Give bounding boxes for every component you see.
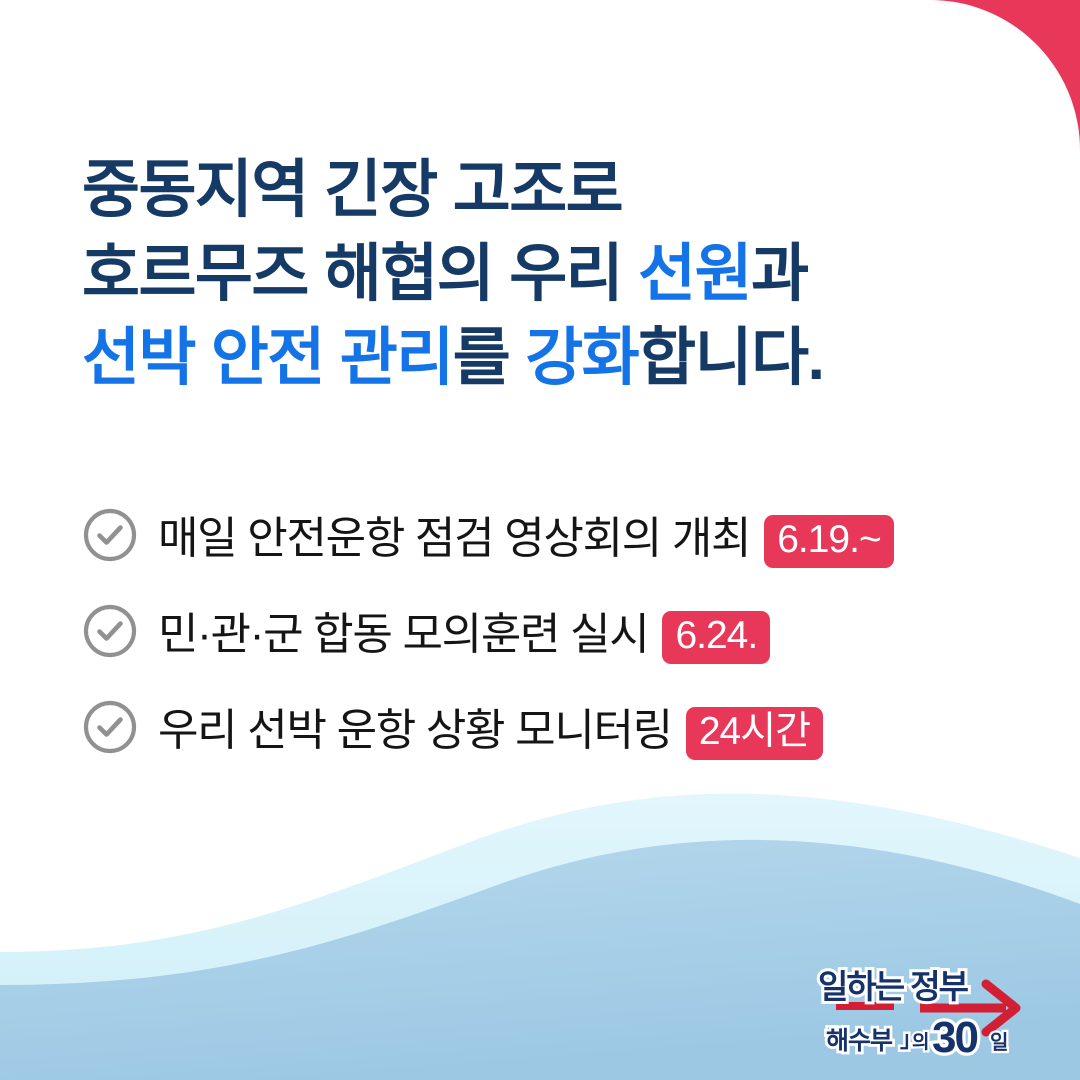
headline-seg: 중동지역 긴장 고조로 xyxy=(82,155,622,225)
checklist-item-text-wrap: 민·관·군 합동 모의훈련 실시6.24. xyxy=(158,598,770,664)
checklist-item-badge: 6.24. xyxy=(662,611,770,664)
checklist-item: 매일 안전운항 점검 영상회의 개최6.19.~ xyxy=(82,487,1022,583)
checklist-item: 우리 선박 운항 상황 모니터링24시간 xyxy=(82,679,1022,775)
logo-number: 30 xyxy=(932,1013,977,1060)
logo-unit: 일 xyxy=(990,1031,1008,1054)
check-circle-icon xyxy=(82,603,138,659)
card-news-canvas: 중동지역 긴장 고조로 호르무즈 해협의 우리 선원과 선박 안전 관리를 강화… xyxy=(0,0,1080,1080)
logo-ministry-name: 해수부 xyxy=(826,1027,893,1055)
checklist-item-label: 매일 안전운항 점검 영상회의 개최 xyxy=(158,514,750,563)
checklist-item-text-wrap: 우리 선박 운항 상황 모니터링24시간 xyxy=(158,694,823,760)
corner-accent-shape xyxy=(930,0,1080,150)
corner-accent-red-wedge xyxy=(930,0,1080,150)
logo-particle: 의 xyxy=(912,1031,929,1053)
headline-line-3: 선박 안전 관리를 강화합니다. xyxy=(82,316,982,400)
checklist-item-badge: 24시간 xyxy=(686,707,823,760)
check-circle-icon xyxy=(82,507,138,563)
checklist-item-label: 민·관·군 합동 모의훈련 실시 xyxy=(158,610,648,659)
checklist-item-label: 우리 선박 운항 상황 모니터링 xyxy=(158,706,672,755)
headline-line-2: 호르무즈 해협의 우리 선원과 xyxy=(82,232,982,316)
headline-seg: 를 xyxy=(453,323,525,393)
checklist: 매일 안전운항 점검 영상회의 개최6.19.~ 민·관·군 합동 모의훈련 실… xyxy=(82,487,1022,775)
checklist-item-text-wrap: 매일 안전운항 점검 영상회의 개최6.19.~ xyxy=(158,502,894,568)
campaign-logo: 일하는 정부 「 해수부 」 의 30 일 xyxy=(808,952,1032,1060)
headline: 중동지역 긴장 고조로 호르무즈 해협의 우리 선원과 선박 안전 관리를 강화… xyxy=(82,148,982,400)
headline-seg: 호르무즈 해협의 우리 xyxy=(82,239,638,309)
check-circle-icon xyxy=(82,699,138,755)
headline-line-1: 중동지역 긴장 고조로 xyxy=(82,148,982,232)
headline-seg-highlight: 강화 xyxy=(525,323,638,393)
headline-seg: 과 xyxy=(751,239,807,309)
headline-seg: 합니다. xyxy=(638,323,823,393)
headline-seg-highlight: 선박 안전 관리 xyxy=(82,323,453,393)
checklist-item-badge: 6.19.~ xyxy=(764,515,894,568)
headline-seg-highlight: 선원 xyxy=(638,239,751,309)
logo-line-1: 일하는 정부 xyxy=(818,968,969,1005)
checklist-item: 민·관·군 합동 모의훈련 실시6.24. xyxy=(82,583,1022,679)
